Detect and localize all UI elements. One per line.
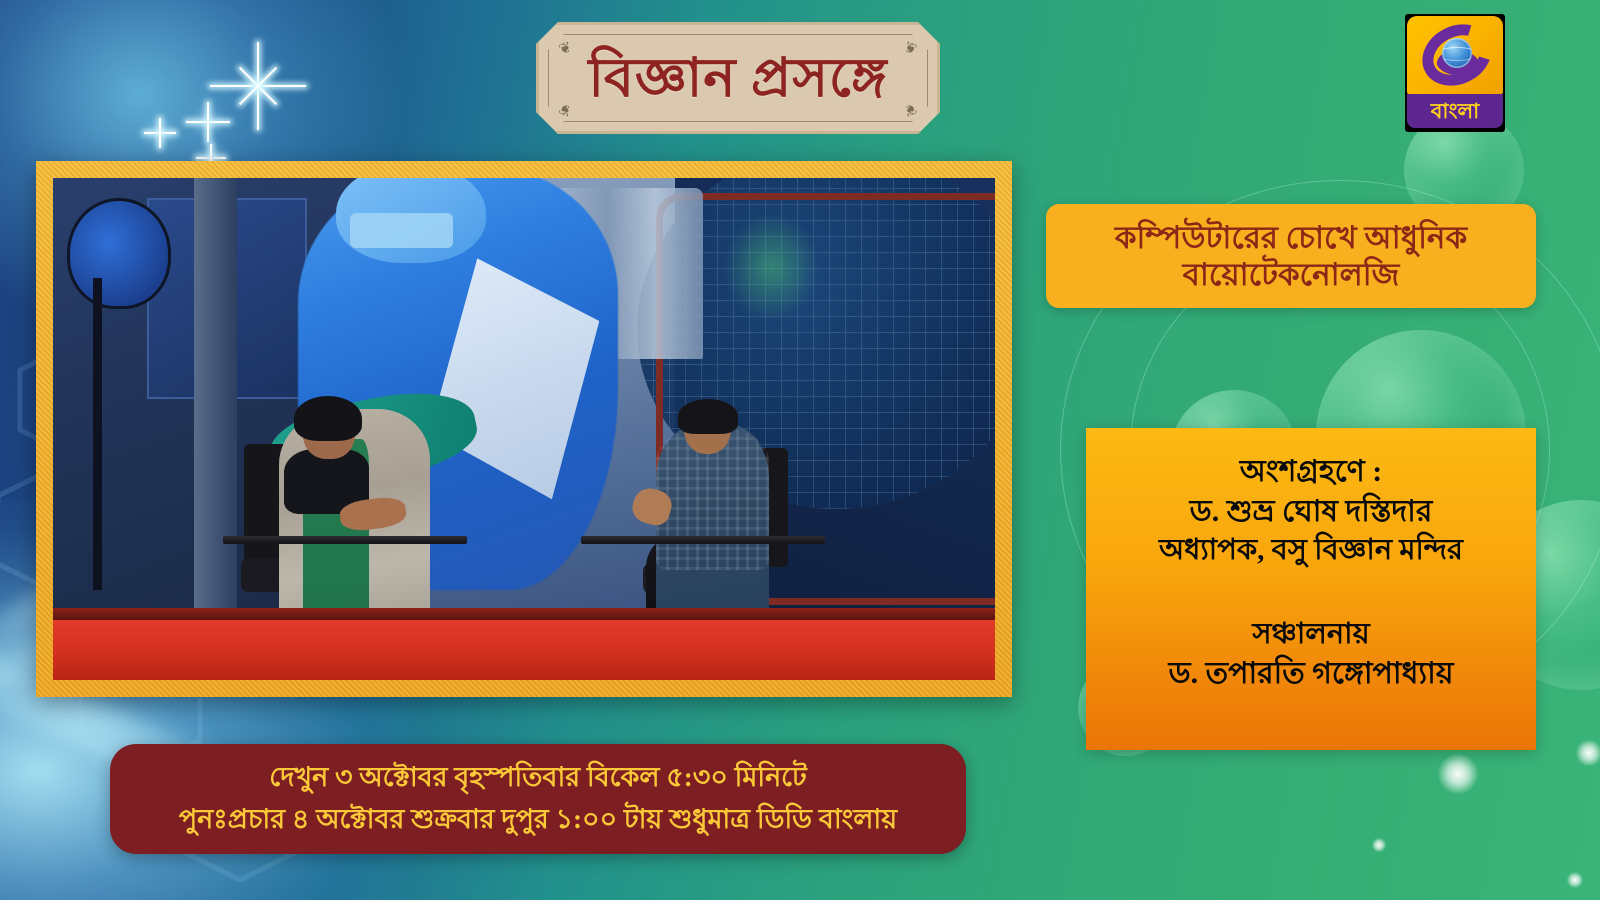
logo-swirl-icon xyxy=(1407,16,1503,94)
light-dot xyxy=(1567,872,1583,888)
program-title: বিজ্ঞান প্রসঙ্গে xyxy=(588,51,887,105)
studio-pillar xyxy=(194,178,236,610)
stage-edge xyxy=(53,608,995,620)
light-dot xyxy=(1438,754,1478,794)
globe-icon xyxy=(1442,38,1472,68)
host-name: ড. তপারতি গঙ্গোপাধ্যায় xyxy=(1168,654,1453,694)
participants-heading: অংশগ্রহণে : xyxy=(1240,452,1383,492)
logo-wordmark: বাংলা xyxy=(1431,101,1480,122)
stage-floor xyxy=(53,620,995,680)
topic-line-2: বায়োটেকনোলজি xyxy=(1115,256,1467,293)
photo-frame xyxy=(36,161,1012,697)
host-label: সঞ্চালনায় xyxy=(1252,615,1369,653)
schedule-line-1: দেখুন ৩ অক্টোবর বৃহস্পতিবার বিকেল ৫:৩০ ম… xyxy=(269,757,807,799)
guest-affiliation: অধ্যাপক, বসু বিজ্ঞান মন্দির xyxy=(1159,531,1463,569)
schedule-line-2: পুনঃপ্রচার ৪ অক্টোবর শুক্রবার দুপুর ১:০০… xyxy=(179,799,897,841)
participants-box: অংশগ্রহণে : ড. শুভ্র ঘোষ দস্তিদার অধ্যাপ… xyxy=(1086,428,1536,750)
light-dot xyxy=(1576,740,1600,766)
guest-name: ড. শুভ্র ঘোষ দস্তিদার xyxy=(1190,492,1433,532)
table-left xyxy=(223,536,468,544)
studio-headphone-prop xyxy=(67,198,171,308)
episode-topic-box: কম্পিউটারের চোখে আধুনিক বায়োটেকনোলজি xyxy=(1046,204,1536,308)
topic-text: কম্পিউটারের চোখে আধুনিক বায়োটেকনোলজি xyxy=(1115,219,1467,293)
studio-photo xyxy=(53,178,995,680)
studio-stand xyxy=(93,278,102,589)
logo-wordmark-bar: বাংলা xyxy=(1407,94,1503,128)
schedule-banner: দেখুন ৩ অক্টোবর বৃহস্পতিবার বিকেল ৫:৩০ ম… xyxy=(110,744,966,854)
table-right xyxy=(581,536,826,544)
program-title-plaque: ❦ ❦ ❦ ❦ বিজ্ঞান প্রসঙ্গে xyxy=(536,22,940,134)
light-dot xyxy=(1372,838,1386,852)
dd-bangla-logo: বাংলা xyxy=(1405,14,1505,132)
topic-line-1: কম্পিউটারের চোখে আধুনিক xyxy=(1115,219,1467,256)
woman-hair xyxy=(294,396,362,441)
man-hair xyxy=(678,399,738,434)
backdrop-ppe-mask xyxy=(350,213,454,248)
